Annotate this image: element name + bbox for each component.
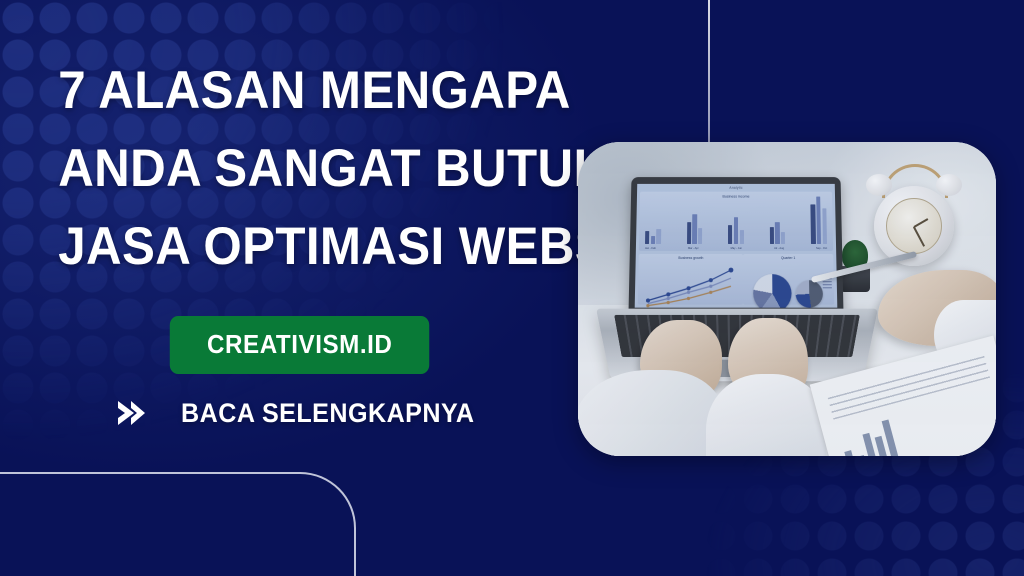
vertical-accent-line — [708, 0, 710, 152]
headline-line-2: ANDA SANGAT BUTUH — [58, 130, 542, 208]
brand-button[interactable]: CREATIVISM.ID — [170, 316, 430, 374]
promo-banner: 7 ALASAN MENGAPA ANDA SANGAT BUTUH JASA … — [0, 0, 1024, 576]
read-more-label: BACA SELENGKAPNYA — [181, 398, 474, 429]
read-more-link[interactable]: BACA SELENGKAPNYA — [40, 396, 560, 430]
brand-button-row: CREATIVISM.ID — [40, 316, 560, 374]
headline-line-3: JASA OPTIMASI WEBSITE — [58, 208, 542, 286]
text-column: 7 ALASAN MENGAPA ANDA SANGAT BUTUH JASA … — [40, 52, 560, 430]
headline-line-1: 7 ALASAN MENGAPA — [58, 52, 542, 130]
photo-scene: Analytic Business income Jan - Feb — [578, 142, 996, 456]
hero-photo: Analytic Business income Jan - Feb — [578, 142, 996, 456]
corner-curve-accent — [0, 472, 356, 576]
chevron-right-icon — [114, 396, 148, 430]
photo-color-tone — [578, 142, 996, 456]
